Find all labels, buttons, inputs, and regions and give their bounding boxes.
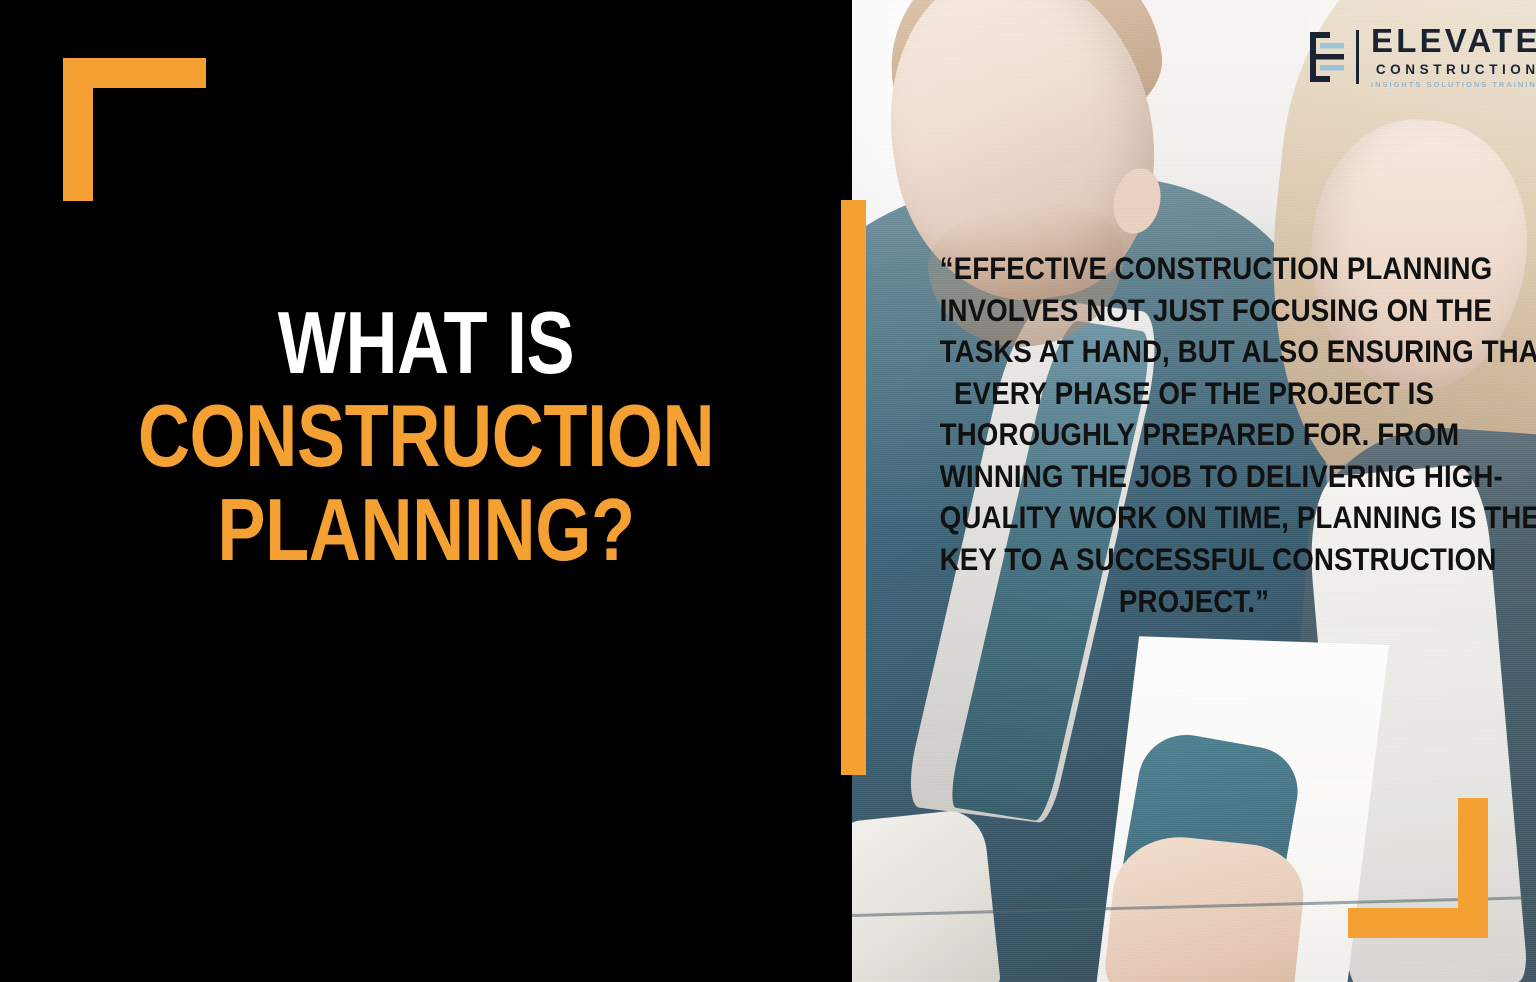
bracket-vertical-arm: [63, 58, 93, 201]
logo-brand-name: ELEVATE: [1371, 24, 1536, 57]
accent-vertical-bar: [841, 200, 866, 775]
logo-divider: [1356, 30, 1359, 84]
corner-bracket-bottom-right-icon: [1348, 798, 1488, 938]
page-title: WHAT IS CONSTRUCTION PLANNING?: [0, 300, 852, 572]
quote-block: “EFFECTIVE CONSTRUCTION PLANNING INVOLVE…: [940, 248, 1449, 622]
quote-line: WINNING THE JOB TO DELIVERING HIGH-: [940, 456, 1449, 498]
headline-line-2: CONSTRUCTION: [77, 393, 776, 478]
quote-line: KEY TO A SUCCESSFUL CONSTRUCTION: [940, 539, 1449, 581]
quote-line: EVERY PHASE OF THE PROJECT IS: [940, 373, 1449, 415]
logo-wordmark: ELEVATE CONSTRUCTION INSIGHTS SOLUTIONS …: [1371, 24, 1536, 89]
quote-line: QUALITY WORK ON TIME, PLANNING IS THE: [940, 497, 1449, 539]
quote-line: INVOLVES NOT JUST FOCUSING ON THE: [940, 290, 1449, 332]
quote-line: PROJECT.”: [940, 581, 1449, 623]
headline-line-3: PLANNING?: [77, 487, 776, 572]
quote-line: THOROUGHLY PREPARED FOR. FROM: [940, 414, 1449, 456]
logo-subtitle: CONSTRUCTION: [1371, 62, 1536, 77]
corner-bracket-top-left-icon: [63, 58, 206, 201]
quote-line: “EFFECTIVE CONSTRUCTION PLANNING: [940, 248, 1449, 290]
slide-root: WHAT IS CONSTRUCTION PLANNING? “EFFECTIV…: [0, 0, 1536, 982]
brand-logo: ELEVATE CONSTRUCTION INSIGHTS SOLUTIONS …: [1308, 24, 1536, 89]
bracket-horizontal-arm: [1348, 908, 1488, 938]
quote-line: TASKS AT HAND, BUT ALSO ENSURING THAT: [940, 331, 1449, 373]
headline-line-1: WHAT IS: [77, 300, 776, 385]
logo-tagline: INSIGHTS SOLUTIONS TRAINING: [1371, 80, 1536, 89]
elevate-mark-icon: [1308, 30, 1346, 84]
